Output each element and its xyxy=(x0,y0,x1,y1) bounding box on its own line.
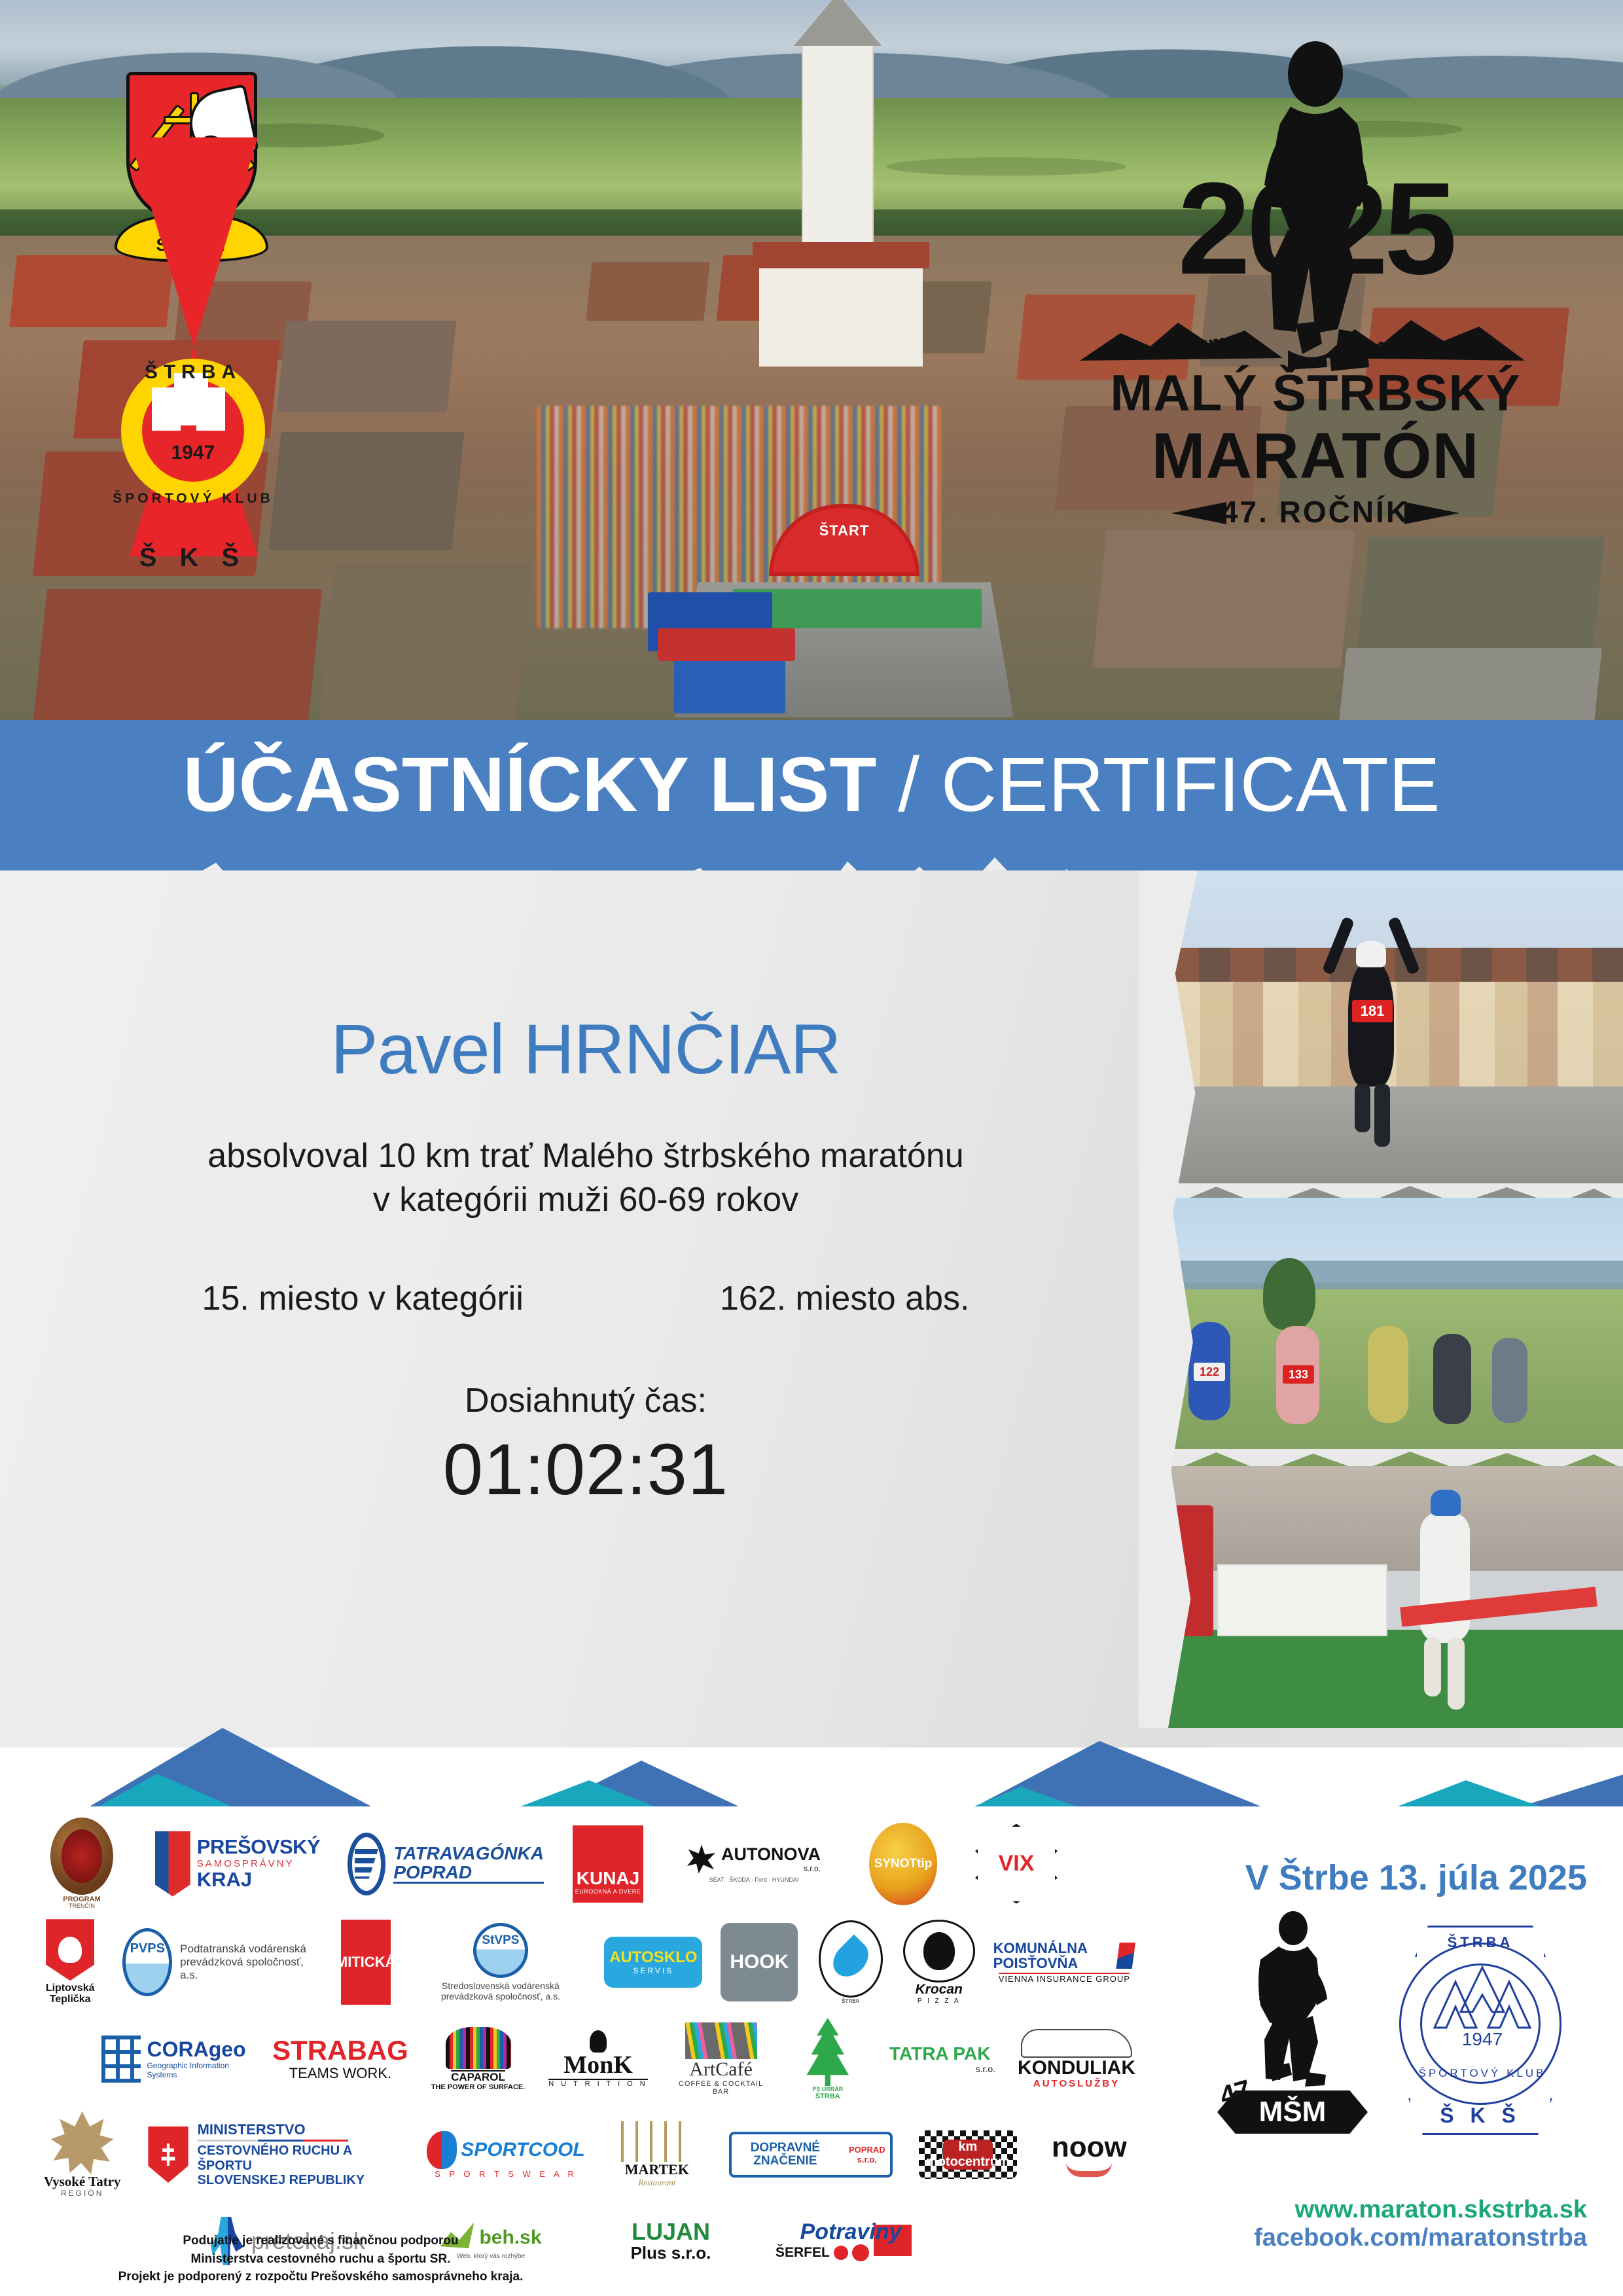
arrow-left-icon xyxy=(1171,502,1230,524)
sponsor-sublabel: P I Z Z A xyxy=(918,1998,961,2005)
sponsor-kunaj: KUNAJ EUROOKNÁ A DVERE xyxy=(569,1825,647,1903)
lone-tree xyxy=(1263,1258,1315,1330)
sponsor-brands: SEAT · ŠKODA · Ford · HYUNDAI xyxy=(709,1876,799,1883)
autonova-star-icon xyxy=(687,1845,716,1874)
sponsor-label: PVPS xyxy=(130,1942,165,1956)
club-triangle-bottom xyxy=(130,137,258,347)
bib-second: 133 xyxy=(1283,1365,1314,1384)
club-emblem: ŠTRBA 1947 ŠPORTOVÝ KLUB Š K Š xyxy=(111,327,275,602)
sponsor-hook: HOOK xyxy=(721,1923,798,2001)
sponsor-label: SPORTCOOL xyxy=(461,2140,584,2161)
sponsor-label: Potraviny xyxy=(800,2221,902,2244)
blue-tent-2 xyxy=(674,655,785,713)
sponsor-label: Vysoké Tatry xyxy=(44,2174,121,2189)
footer: V Štrbe 13. júla 2025 PROGRAM TRENČÍN PR… xyxy=(0,1806,1623,2296)
certificate-description: absolvoval 10 km trať Malého štrbského m… xyxy=(0,1134,1171,1221)
brand-line-1: MALÝ ŠTRBSKÝ xyxy=(1067,363,1564,423)
website-url[interactable]: www.maraton.skstrba.sk xyxy=(1254,2196,1587,2224)
photo-finish-woman: 181 xyxy=(1139,870,1623,1204)
sponsor-sublabel: Restaurant xyxy=(638,2178,675,2188)
runner-dark-shirt xyxy=(1433,1334,1471,1424)
sponsor-label: MARTEK xyxy=(625,2162,689,2177)
time-label: Dosiahnutý čas: xyxy=(0,1381,1171,1420)
place-absolute: 162. miesto abs. xyxy=(720,1279,970,1318)
sponsor-sublabel-2: prevádzková spoločnosť, a.s. xyxy=(441,1991,560,2001)
artcafe-stripes-icon xyxy=(685,2022,757,2059)
funding-note-line-1: Podujatie je realizované s finančnou pod… xyxy=(79,2232,563,2250)
sponsor-sublabel-2: KRAJ xyxy=(197,1869,320,1891)
facebook-url[interactable]: facebook.com/maratonstrba xyxy=(1254,2224,1587,2252)
sponsor-label: VIX xyxy=(999,1852,1035,1876)
church-tower xyxy=(802,39,874,255)
sponsor-caparol: CAPAROL THE POWER OF SURFACE. xyxy=(431,2027,526,2091)
sponsor-artcafe: ArtCafé COFFEE & COCKTAIL BAR xyxy=(671,2022,772,2096)
sponsor-label: HOOK xyxy=(730,1952,789,1973)
church-roof xyxy=(753,242,929,268)
sponsor-label: noow xyxy=(1052,2132,1127,2162)
runner-cap-icon xyxy=(1356,941,1386,967)
presovsky-crest-icon xyxy=(155,1831,190,1897)
sponsor-label: PS URBÁR xyxy=(812,2086,843,2092)
sponsor-label: MINISTERSTVO xyxy=(198,2122,408,2137)
sponsor-sublabel: TEAMS WORK. xyxy=(289,2065,391,2082)
club-top-text: ŠTRBA xyxy=(111,361,275,384)
sponsor-sublabel: ŠERFEL xyxy=(776,2246,830,2260)
sponsor-vix: VIX xyxy=(971,1824,1062,1904)
sponsor-sublabel-2: prevádzková spoločnosť, a.s. xyxy=(180,1956,316,1982)
sponsor-grid: PROGRAM TRENČÍN PREŠOVSKÝ SAMOSPRÁVNY KR… xyxy=(36,1820,1135,2225)
sponsor-synottip: SYNOTtip xyxy=(861,1823,946,1905)
sponsor-corageo: CORAgeo Geographic Information Systems xyxy=(101,2036,250,2083)
sponsor-ministerstvo: MINISTERSTVO CESTOVNÉHO RUCHU A ŠPORTU S… xyxy=(148,2122,407,2187)
sponsor-sublabel: Plus s.r.o. xyxy=(631,2244,711,2262)
certificate-page: ŠTART ŠTRBA ŠTRBA 1947 Š xyxy=(0,0,1623,2296)
leg-left xyxy=(1355,1084,1370,1132)
brand-line-3: 47. ROČNÍK xyxy=(1067,494,1564,529)
sponsor-komunalna-poistovna: KOMUNÁLNA POISŤOVŇA VIENNA INSURANCE GRO… xyxy=(993,1941,1135,1984)
sponsor-sublabel: REGIÓN xyxy=(61,2189,103,2198)
sponsor-label: DOPRAVNÉ ZNAČENIE xyxy=(732,2142,839,2168)
sponsor-sublabel: AUTOSLUŽBY xyxy=(1033,2078,1120,2089)
sks-bottom-text: Š K Š xyxy=(1440,2105,1521,2127)
contact-links: www.maraton.skstrba.sk facebook.com/mara… xyxy=(1254,2196,1587,2252)
sponsor-monk-nutrition: MonK N U T R I T I O N xyxy=(548,2030,649,2088)
sponsor-km-motocentrum: km motocentrum xyxy=(912,2130,1024,2179)
sponsor-sublabel: s.r.o. xyxy=(976,2064,995,2074)
sponsor-sublabel: S P O R T S W E A R xyxy=(435,2169,577,2179)
sponsor-lujan-plus: LUJAN Plus s.r.o. xyxy=(612,2219,730,2262)
km-checkered-icon: km motocentrum xyxy=(919,2130,1017,2179)
funding-note-line-3: Projekt je podporený z rozpočtu Prešovsk… xyxy=(79,2268,563,2286)
sponsor-sublabel: s.r.o. xyxy=(721,1864,821,1873)
sponsor-label: PREŠOVSKÝ xyxy=(197,1837,320,1858)
bib-third: 122 xyxy=(1194,1363,1225,1381)
runner-grey-shirt xyxy=(1492,1338,1527,1423)
sponsor-sportcool: SPORTCOOL S P O R T S W E A R xyxy=(427,2131,584,2179)
martek-cutlery-icon xyxy=(621,2121,693,2162)
page-title: ÚČASTNÍCKY LIST / CERTIFICATE xyxy=(0,746,1623,823)
sponsor-label: AUTOSKLO xyxy=(609,1949,697,1965)
sponsor-label: STRABAG xyxy=(272,2036,408,2065)
sponsor-sublabel: CESTOVNÉHO RUCHU A ŠPORTU xyxy=(198,2144,408,2174)
msm-name: MŠM xyxy=(1217,2090,1368,2134)
sponsor-sublabel: COFFEE & COCKTAIL BAR xyxy=(671,2080,772,2096)
red-tent xyxy=(658,628,795,661)
church-nave xyxy=(759,255,923,367)
title-part-slovak: ÚČASTNÍCKY LIST xyxy=(183,742,877,828)
runner-woman-body xyxy=(1348,962,1394,1086)
sponsor-label: MonK xyxy=(563,2053,633,2079)
corageo-grid-icon xyxy=(101,2036,141,2083)
sponsor-sublabel: SERVIS xyxy=(633,1966,673,1975)
vt-edelweiss-icon xyxy=(51,2111,114,2174)
sponsor-label: CAPAROL xyxy=(451,2070,505,2083)
club-year: 1947 xyxy=(111,442,275,464)
sponsor-vysoke-tatry-region: Vysoké Tatry REGIÓN xyxy=(36,2111,128,2198)
konduliak-car-icon xyxy=(1021,2029,1132,2058)
komunalna-flag-icon xyxy=(1116,1943,1135,1969)
sponsor-label: SYNOTtip xyxy=(874,1857,933,1871)
sponsor-tatrapak: TATRA PAK s.r.o. xyxy=(884,2044,995,2073)
sks-footer-badge: ŠTRBA 1947 ŠPORTOVÝ KLUB Š K Š xyxy=(1387,1911,1577,2134)
sponsor-label: km motocentrum xyxy=(943,2140,993,2170)
msm-runner-icon xyxy=(1237,1911,1348,2075)
title-part-english: / CERTIFICATE xyxy=(876,742,1440,828)
sponsor-label: MITICKÁ xyxy=(336,1954,396,1969)
sponsor-autonova: AUTONOVA s.r.o. SEAT · ŠKODA · Ford · HY… xyxy=(672,1845,836,1883)
sponsor-krocan-pizza: Krocan P I Z Z A xyxy=(903,1920,975,2004)
photo-trail-runners: 122 133 xyxy=(1139,1198,1623,1473)
sponsor-noow: noow xyxy=(1043,2132,1135,2177)
club-arc-text: ŠPORTOVÝ KLUB xyxy=(111,491,275,507)
club-peak-right xyxy=(196,387,225,431)
sponsor-sublabel: POPRAD xyxy=(393,1863,544,1884)
sportcool-flame-icon xyxy=(427,2131,457,2169)
sponsor-label: KOMUNÁLNA POISŤOVŇA xyxy=(993,1941,1111,1971)
house-roofs xyxy=(1165,948,1623,982)
funding-note-line-2: Ministerstva cestovného ruchu a športu S… xyxy=(79,2250,563,2269)
placement-row: 15. miesto v kategórii 162. miesto abs. xyxy=(0,1279,1171,1318)
sponsor-tatravagonka: TATRAVAGÓNKA POPRAD xyxy=(348,1833,544,1895)
event-year: 2025 xyxy=(1067,164,1564,295)
place-in-category: 15. miesto v kategórii xyxy=(202,1279,524,1318)
sponsor-miticka: MITICKÁ xyxy=(334,1920,397,2005)
sponsor-sublabel-2: SLOVENSKEJ REPUBLIKY xyxy=(198,2174,408,2187)
sponsor-label: CORAgeo xyxy=(147,2039,251,2061)
race-bib-number: 181 xyxy=(1352,1000,1393,1022)
caparol-elephant-icon xyxy=(446,2027,511,2069)
participant-name: Pavel HRNČIAR xyxy=(0,1008,1171,1090)
monk-figure-icon xyxy=(590,2030,607,2053)
event-date: V Štrbe 13. júla 2025 xyxy=(1245,1857,1587,1898)
start-arch-label: ŠTART xyxy=(819,522,870,539)
arrow-right-icon xyxy=(1400,502,1459,524)
sponsor-sublabel: Geographic Information Systems xyxy=(147,2061,251,2079)
sponsor-label: TATRAVAGÓNKA xyxy=(393,1844,544,1863)
liptovska-crest-icon xyxy=(46,1919,94,1981)
event-branding: 2025 31 km 10 km MALÝ ŠTRBSKÝ MARATÓN 47… xyxy=(1067,36,1564,605)
sponsor-strabag: STRABAG TEAMS WORK. xyxy=(272,2036,408,2082)
sponsor-stvps: StVPS Stredoslovenská vodárenská prevádz… xyxy=(416,1923,586,2001)
tatravagonka-icon xyxy=(348,1833,385,1895)
distant-tatras xyxy=(1139,1261,1623,1293)
photo-finish-man xyxy=(1139,1466,1623,1728)
msm-badge: 47. MŠM xyxy=(1217,1911,1368,2134)
sponsor-sublabel: EUROOKNÁ A DVERE xyxy=(575,1888,641,1895)
sponsor-sublabel: POPRAD s.r.o. xyxy=(844,2145,890,2164)
sponsor-sublabel: TRENČÍN xyxy=(69,1903,95,1910)
sks-arc-text: ŠPORTOVÝ KLUB xyxy=(1387,2067,1577,2080)
sponsor-sublabel: Podtatranská vodárenská xyxy=(180,1943,316,1956)
sponsor-pvps: PVPS Podtatranská vodárenská prevádzková… xyxy=(122,1928,316,1996)
urbar-tree-icon xyxy=(805,2018,851,2086)
sponsor-label: AUTONOVA xyxy=(721,1845,821,1863)
sponsor-sublabel: ŠTRBA xyxy=(842,1998,859,2004)
sponsor-sublabel: Teplička xyxy=(50,1994,91,2005)
sponsor-sublabel: ŠTRBA xyxy=(815,2092,840,2100)
banner-strbsky-maraton xyxy=(1217,1564,1387,1636)
club-bottom-text: Š K Š xyxy=(111,543,275,573)
sponsor-autosklo: AUTOSKLO SERVIS xyxy=(604,1937,702,1988)
finish-time: 01:02:31 xyxy=(0,1428,1171,1511)
brand-line-2: MARATÓN xyxy=(1067,419,1564,493)
runner-man-cap xyxy=(1431,1490,1461,1516)
sponsor-label: TATRA PAK xyxy=(889,2044,991,2063)
sponsor-ps-urbar-strba: PS URBÁR ŠTRBA xyxy=(793,2018,862,2100)
sponsor-sublabel: N U T R I T I O N xyxy=(548,2079,648,2088)
funding-note: Podujatie je realizované s finančnou pod… xyxy=(79,2232,563,2286)
sponsor-label: Krocan xyxy=(915,1982,962,1997)
man-leg-left xyxy=(1424,1638,1441,1696)
sponsor-liptovska-teplicka: Liptovská Teplička xyxy=(36,1919,104,2005)
sponsor-label: KUNAJ xyxy=(577,1869,639,1888)
certificate-text-column: Pavel HRNČIAR absolvoval 10 km trať Malé… xyxy=(0,1008,1171,1511)
sponsor-dopravne-znacenie: DOPRAVNÉ ZNAČENIE POPRAD s.r.o. xyxy=(729,2132,893,2178)
sponsor-martek: MARTEK Restaurant xyxy=(605,2121,709,2187)
sponsor-presovsky-kraj: PREŠOVSKÝ SAMOSPRÁVNY KRAJ xyxy=(152,1831,323,1897)
sponsor-sublabel: VIENNA INSURANCE GROUP xyxy=(999,1974,1130,1984)
noow-smile-icon xyxy=(1066,2162,1112,2177)
sponsor-label: Liptovská xyxy=(46,1983,95,1994)
slovak-crest-icon xyxy=(148,2126,188,2183)
description-line-1: absolvoval 10 km trať Malého štrbského m… xyxy=(0,1134,1171,1178)
leg-right xyxy=(1374,1084,1390,1147)
club-peak-left xyxy=(152,387,181,431)
sponsor-label: ArtCafé xyxy=(689,2059,753,2080)
sponsor-potraviny-serfel: Potraviny ŠERFEL xyxy=(776,2221,926,2261)
sponsor-label: KONDULIAK xyxy=(1018,2058,1135,2079)
photo-collage: 181 122 133 xyxy=(1139,870,1623,1728)
sponsor-sublabel: THE POWER OF SURFACE. xyxy=(431,2083,526,2091)
sponsor-program-trencin: PROGRAM TRENČÍN xyxy=(36,1818,128,1910)
runner-yellow-shirt xyxy=(1368,1326,1408,1423)
sponsor-label: LUJAN xyxy=(632,2219,710,2244)
sponsor-label: StVPS xyxy=(482,1934,519,1947)
sks-year: 1947 xyxy=(1387,2029,1577,2050)
description-line-2: v kategórii muži 60-69 rokov xyxy=(0,1178,1171,1222)
sponsor-sublabel: Stredoslovenská vodárenská xyxy=(441,1981,560,1991)
sponsor-konduliak: KONDULIAK AUTOSLUŽBY xyxy=(1018,2029,1135,2090)
sponsor-pd-strba: ŠTRBA xyxy=(816,1920,884,2004)
man-leg-right xyxy=(1448,1638,1465,1710)
